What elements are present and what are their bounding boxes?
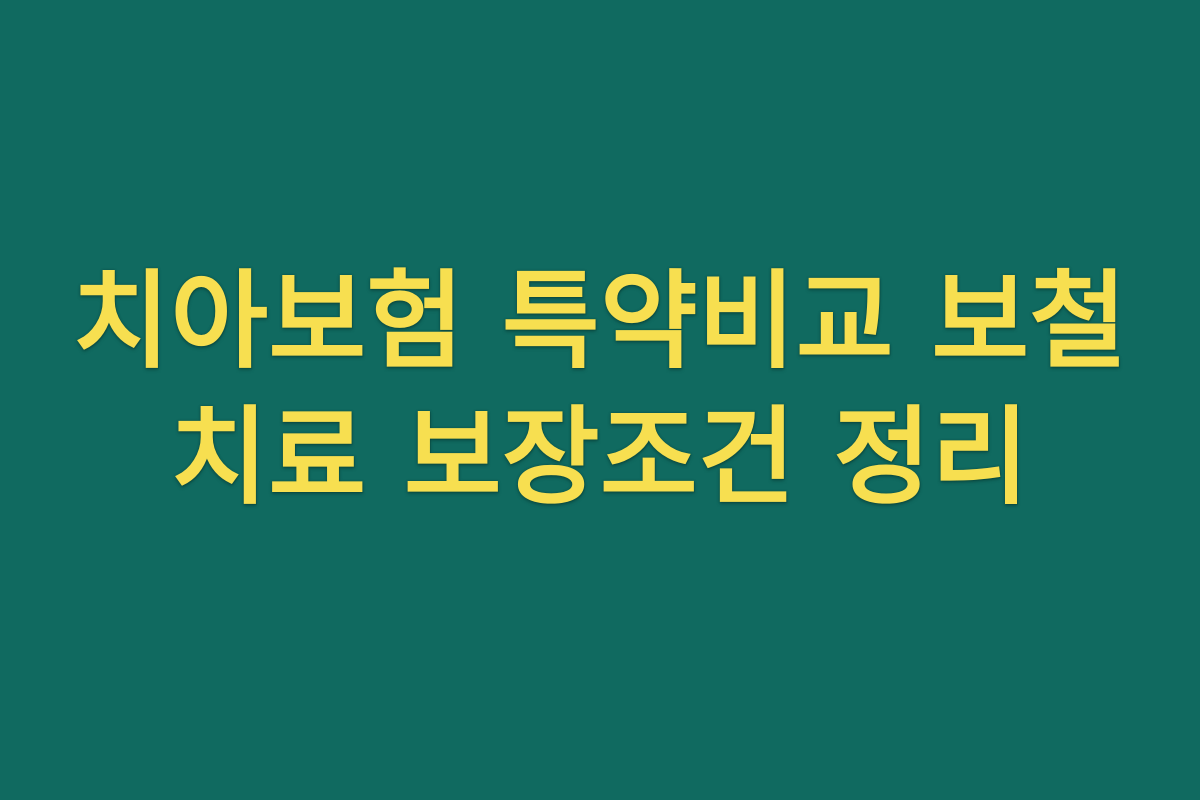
headline-block: 치아보험 특약비교 보철 치료 보장조건 정리 xyxy=(0,254,1200,526)
thumbnail-card: 치아보험 특약비교 보철 치료 보장조건 정리 xyxy=(0,0,1200,800)
headline-line-1: 치아보험 특약비교 보철 xyxy=(0,254,1200,390)
headline-line-2: 치료 보장조건 정리 xyxy=(0,390,1200,526)
